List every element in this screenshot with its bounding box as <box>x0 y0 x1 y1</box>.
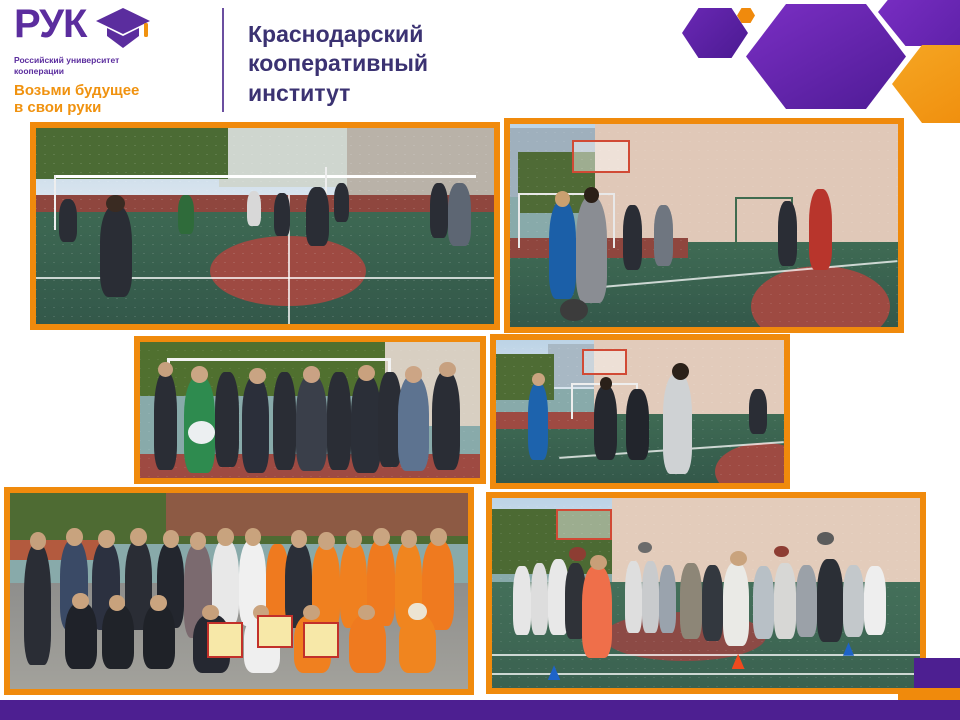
header-divider <box>222 8 224 112</box>
logo-top-row: РУК <box>14 4 214 52</box>
logo-subtitle: Российский университет кооперации <box>14 55 164 76</box>
logo-tagline-line2: в свои руки <box>14 100 214 117</box>
photo-award-group <box>4 487 474 695</box>
institute-title: Краснодарский кооперативный институт <box>248 20 428 108</box>
logo-tagline-line1: Возьми будущее <box>14 83 214 100</box>
institute-title-line1: Краснодарский <box>248 20 428 49</box>
logo-mark-ruk: РУК <box>14 4 86 44</box>
photo-volleyball-match <box>30 122 500 330</box>
hexagon-large-purple-center <box>746 4 906 109</box>
university-logo: РУК Российский университет кооперации Во… <box>14 4 214 117</box>
institute-title-line3: институт <box>248 79 428 108</box>
footer-band-purple <box>0 700 960 720</box>
photo-team-group-goal <box>134 336 486 484</box>
hexagon-decoration-group <box>660 0 960 135</box>
photo-football-action <box>490 334 790 489</box>
presentation-slide: РУК Российский университет кооперации Во… <box>0 0 960 720</box>
institute-title-line2: кооперативный <box>248 49 428 78</box>
graduation-cap-icon <box>94 6 152 52</box>
footer-accent-orange <box>898 688 960 700</box>
photo-football-dribble <box>504 118 904 333</box>
photo-warmup-line <box>486 492 926 694</box>
